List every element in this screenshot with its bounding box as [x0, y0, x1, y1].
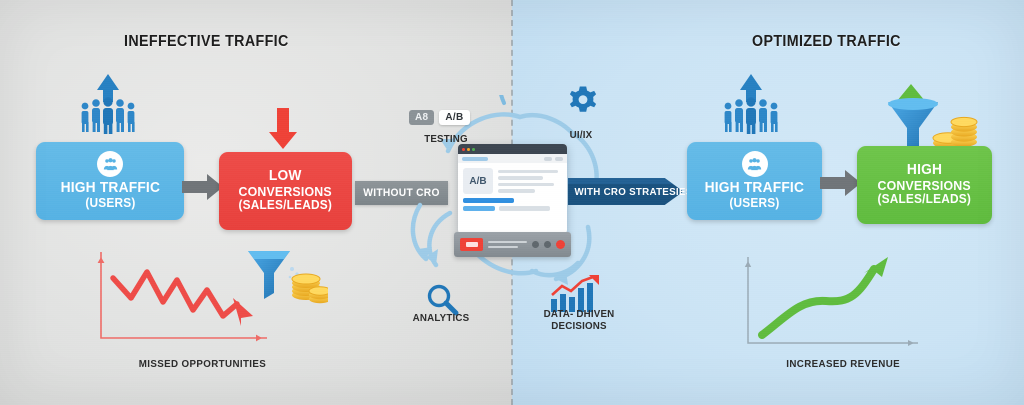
box-line-1: LOW — [269, 169, 302, 185]
browser-urlbar[interactable] — [458, 154, 567, 163]
people-up-arrow-icon-right — [718, 72, 784, 139]
grey-chevron-right — [820, 168, 862, 198]
box-high-traffic-right[interactable]: HIGH TRAFFIC (USERS) — [687, 142, 822, 220]
users-group-icon — [97, 151, 123, 177]
play-badge-icon — [460, 238, 483, 251]
chart-increased-revenue — [740, 255, 925, 355]
ddd-line-2: DECISIONS — [551, 320, 606, 332]
monitor-stand-icon — [454, 232, 571, 257]
label-data-driven-decisions: DATA- DHIVEN DECISIONS — [531, 308, 628, 333]
box-line-2: CONVERSIONS — [878, 179, 971, 193]
base-dot-1 — [532, 241, 539, 248]
box-line-1: HIGH TRAFFIC — [60, 181, 159, 197]
box-high-conversions[interactable]: HIGH CONVERSIONS (SALES/LEADS) — [857, 146, 992, 224]
box-line-3: (SALES/LEADS) — [239, 199, 333, 213]
box-line-3: (SALES/LEADS) — [878, 193, 972, 207]
box-line-1: HIGH — [907, 163, 942, 179]
people-up-arrow-icon — [75, 72, 141, 139]
ab-testing-badges[interactable]: A8 A/B — [409, 110, 470, 125]
ribbon-with-cro-strategies[interactable]: WITH CRO STRATESIES — [568, 178, 692, 205]
box-line-2: (USERS) — [729, 197, 779, 211]
box-high-traffic-left[interactable]: HIGH TRAFFIC (USERS) — [36, 142, 184, 220]
base-lines — [488, 241, 527, 249]
red-down-arrow-icon — [268, 108, 298, 155]
users-group-icon — [742, 151, 768, 177]
label-ui-ix: UI/IX — [544, 129, 618, 141]
browser-window-icon: A/B — [454, 144, 571, 257]
browser-cta-rows — [458, 198, 567, 211]
chart-revenue-caption: INCREASED REVENUE — [786, 358, 900, 370]
browser-frame: A/B — [458, 144, 567, 234]
box-low-conversions[interactable]: LOW CONVERSIONS (SALES/LEADS) — [219, 152, 352, 230]
gear-icon — [566, 86, 600, 125]
chart-missed-opportunities — [95, 250, 275, 350]
infographic-canvas: INEFFECTIVE TRAFFIC — [0, 0, 1024, 405]
box-line-2: CONVERSIONS — [239, 185, 332, 199]
badge-a8[interactable]: A8 — [409, 110, 434, 125]
base-dot-2 — [544, 241, 551, 248]
ddd-line-1: DATA- DHIVEN — [544, 308, 615, 320]
ab-variant-tile: A/B — [463, 168, 493, 194]
base-dot-record — [556, 240, 565, 249]
chart-missed-caption: MISSED OPPORTUNITIES — [139, 358, 266, 370]
box-line-2: (USERS) — [85, 197, 135, 211]
grey-chevron-left — [182, 172, 224, 202]
left-section-title: INEFFECTIVE TRAFFIC — [124, 33, 289, 51]
badge-ab[interactable]: A/B — [439, 110, 469, 125]
browser-content: A/B — [458, 163, 567, 198]
ribbon-label: WITH CRO STRATESIES — [568, 186, 692, 198]
right-section-title: OPTIMIZED TRAFFIC — [752, 33, 901, 51]
browser-titlebar — [458, 144, 567, 154]
box-line-1: HIGH TRAFFIC — [705, 181, 804, 197]
content-lines — [498, 168, 562, 194]
label-analytics: ANALYTICS — [395, 312, 486, 324]
